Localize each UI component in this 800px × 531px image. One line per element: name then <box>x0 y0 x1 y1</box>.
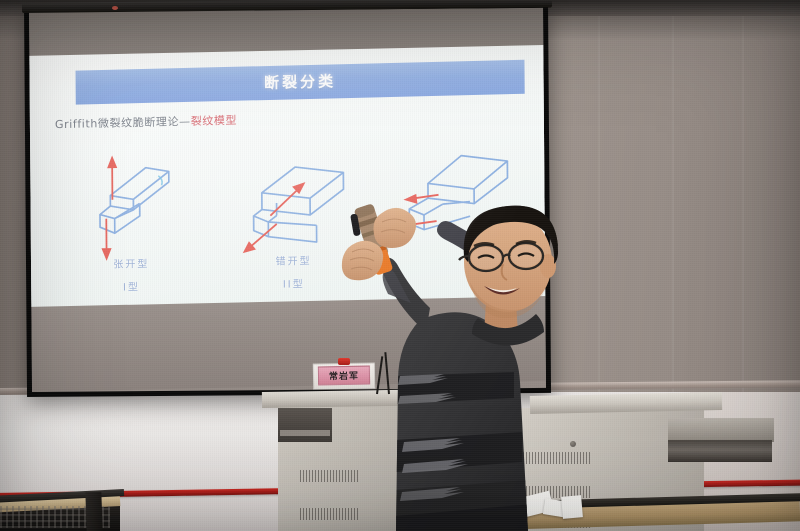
screen-roller-indicator <box>112 6 118 10</box>
diagram-mode-i-label-bottom: I型 <box>57 277 205 295</box>
diagram-mode-i: 张开型 I型 <box>56 152 205 300</box>
slide-title-band: 断裂分类 <box>75 59 524 104</box>
presenter-hand-lower <box>342 241 383 280</box>
wall-seam <box>672 0 674 420</box>
mode-i-graphic <box>56 152 204 259</box>
slide-subtitle-accent: 裂纹模型 <box>190 114 237 128</box>
slide-title: 断裂分类 <box>75 59 524 104</box>
slide-subtitle: Griffith微裂纹脆断理论—裂纹模型 <box>54 112 236 132</box>
diagram-mode-i-label-top: 张开型 <box>57 254 205 272</box>
wall-seam <box>742 0 744 420</box>
presenter-hand-upper <box>374 208 417 248</box>
presenter <box>300 190 600 531</box>
sweater-pattern <box>396 372 532 531</box>
slide-subtitle-prefix: Griffith微裂纹脆断理论— <box>54 115 190 131</box>
presenter-figure <box>300 190 600 531</box>
chair-backrest <box>85 492 102 531</box>
lecture-hall-scene: 断裂分类 Griffith微裂纹脆断理论—裂纹模型 <box>0 0 800 531</box>
console-drawer-recess <box>668 418 774 442</box>
console-keyboard-tray[interactable] <box>668 440 772 462</box>
